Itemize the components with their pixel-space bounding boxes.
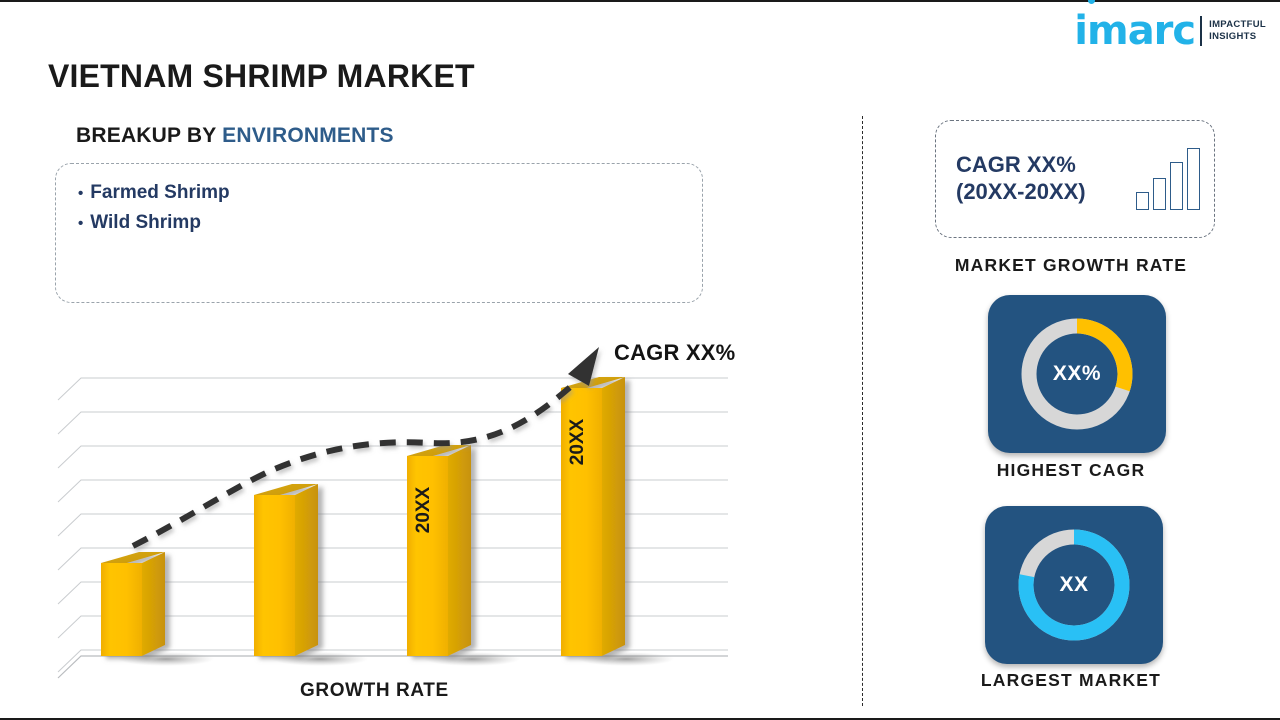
segment-label: Farmed Shrimp — [90, 178, 229, 208]
largest-market-card: XX — [985, 506, 1163, 664]
logo-tagline: IMPACTFUL INSIGHTS — [1209, 19, 1266, 43]
bar-column — [407, 445, 471, 656]
chart-canvas: 20XX 20XX — [48, 330, 748, 710]
bar-column — [101, 552, 165, 656]
chart-x-axis-label: GROWTH RATE — [300, 680, 449, 702]
largest-market-label: LARGEST MARKET — [862, 670, 1280, 691]
imarc-logo: imarc IMPACTFUL INSIGHTS — [1074, 8, 1266, 54]
logo-divider — [1200, 16, 1202, 46]
highest-cagr-label: HIGHEST CAGR — [862, 460, 1280, 481]
logo-dot-icon — [1088, 0, 1095, 4]
bullet-icon: • — [78, 186, 83, 201]
growth-rate-bar-chart: 20XX 20XX — [48, 330, 748, 710]
segments-list-box: • Farmed Shrimp • Wild Shrimp — [55, 163, 703, 303]
market-growth-rate-box: CAGR XX% (20XX-20XX) — [935, 120, 1215, 238]
segment-label: Wild Shrimp — [90, 208, 201, 238]
largest-market-value: XX — [1059, 573, 1088, 597]
highest-cagr-value: XX% — [1053, 362, 1101, 386]
subtitle-accent: ENVIRONMENTS — [222, 124, 394, 147]
page-title: VIETNAM SHRIMP MARKET — [48, 58, 475, 95]
bullet-icon: • — [78, 216, 83, 231]
cagr-text: CAGR XX% (20XX-20XX) — [956, 152, 1086, 206]
chart-cagr-callout: CAGR XX% — [614, 340, 735, 366]
list-item: • Farmed Shrimp — [78, 178, 680, 208]
bar-value-label: 20XX — [413, 486, 434, 533]
panel-divider — [862, 116, 863, 706]
logo-tagline-line1: IMPACTFUL — [1209, 19, 1266, 30]
logo-tagline-line2: INSIGHTS — [1209, 31, 1256, 42]
market-growth-rate-label: MARKET GROWTH RATE — [862, 255, 1280, 276]
mini-bar-chart-icon — [1136, 148, 1200, 210]
subtitle-prefix: BREAKUP BY — [76, 124, 216, 147]
cagr-period-line: (20XX-20XX) — [956, 179, 1086, 206]
bar-value-label: 20XX — [567, 418, 588, 465]
bar-column — [254, 484, 318, 656]
section-subtitle: BREAKUP BY ENVIRONMENTS — [76, 124, 394, 148]
cagr-percent-line: CAGR XX% — [956, 152, 1086, 179]
logo-wordmark: imarc — [1074, 11, 1195, 51]
list-item: • Wild Shrimp — [78, 208, 680, 238]
highest-cagr-card: XX% — [988, 295, 1166, 453]
